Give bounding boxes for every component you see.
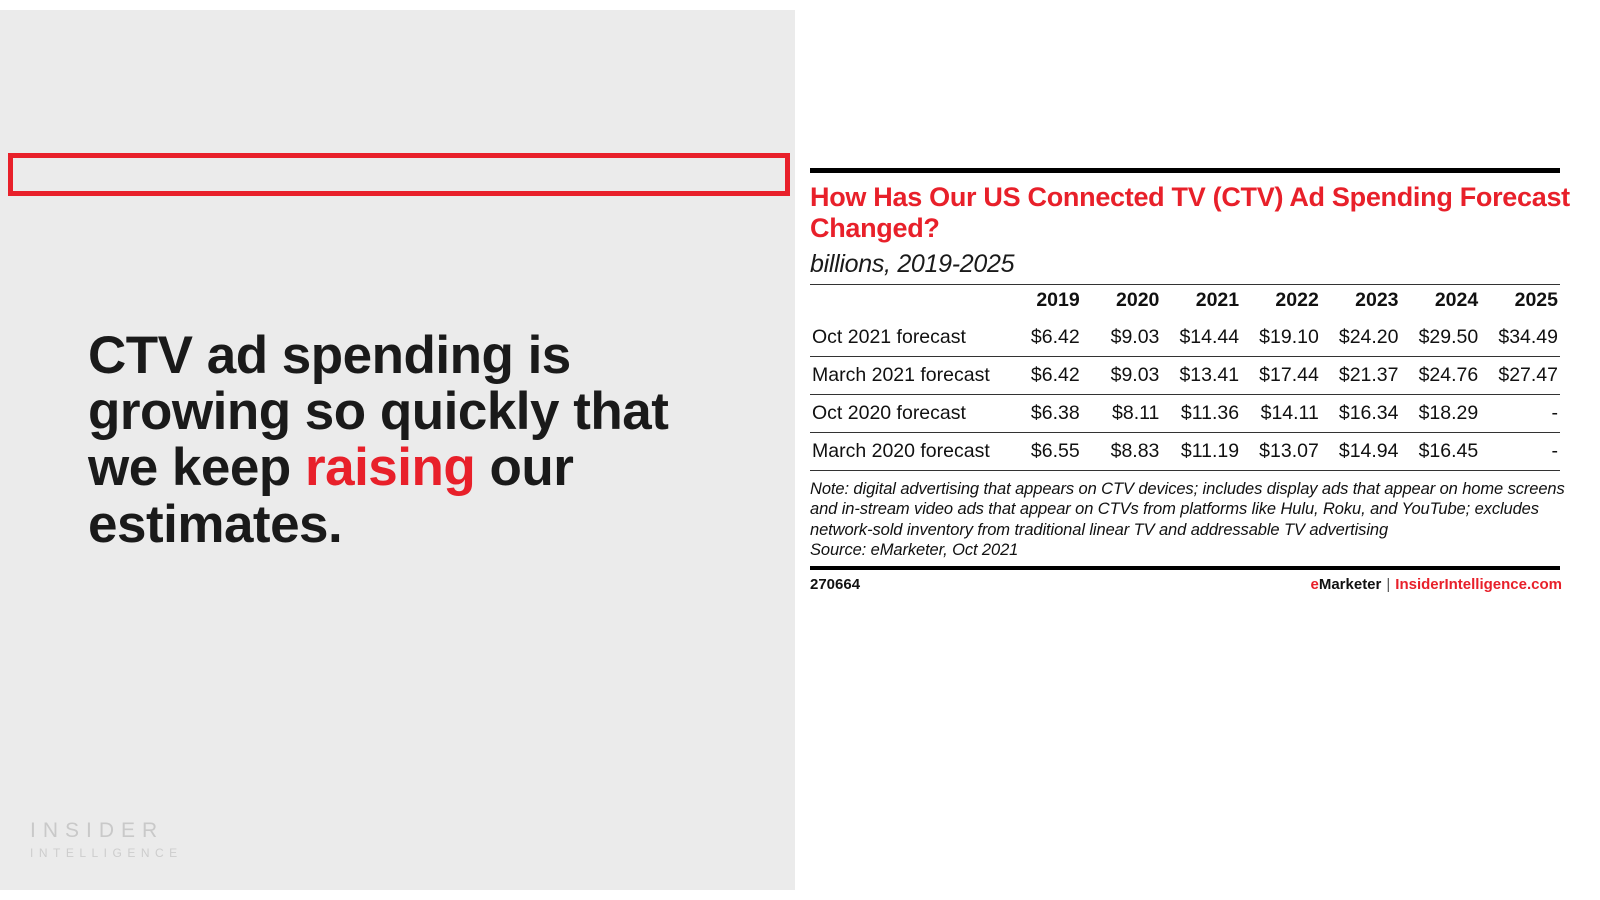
cell-value: $24.76 xyxy=(1401,357,1481,395)
cell-value: $16.34 xyxy=(1321,395,1401,433)
insider-intelligence-url: InsiderIntelligence.com xyxy=(1395,576,1562,593)
row-label: March 2020 forecast xyxy=(810,433,1002,471)
cell-value: $14.44 xyxy=(1161,319,1241,357)
cell-value: $27.47 xyxy=(1480,357,1560,395)
chart-title: How Has Our US Connected TV (CTV) Ad Spe… xyxy=(810,182,1570,245)
cell-value: $8.11 xyxy=(1082,395,1162,433)
logo-intelligence-text: INTELLIGENCE xyxy=(30,846,183,862)
logo-insider-text: INSIDER xyxy=(30,818,183,843)
cell-value: $6.55 xyxy=(1002,433,1082,471)
table-header-row: 2019 2020 2021 2022 2023 2024 2025 xyxy=(810,285,1560,319)
chart-card: How Has Our US Connected TV (CTV) Ad Spe… xyxy=(810,168,1600,593)
insider-intelligence-logo: INSIDER INTELLIGENCE xyxy=(30,818,183,862)
page-title: CTV ad spending is growing so quickly th… xyxy=(88,328,708,553)
cell-value: - xyxy=(1480,395,1560,433)
cell-value: $18.29 xyxy=(1401,395,1481,433)
cell-value: $19.10 xyxy=(1241,319,1321,357)
cell-value: - xyxy=(1480,433,1560,471)
column-header-label xyxy=(810,285,1002,319)
brand-attribution: eMarketer|InsiderIntelligence.com xyxy=(1310,576,1562,593)
table-row: Oct 2020 forecast $6.38 $8.11 $11.36 $14… xyxy=(810,395,1560,433)
cell-value: $9.03 xyxy=(1082,357,1162,395)
cell-value: $14.94 xyxy=(1321,433,1401,471)
table-row: March 2021 forecast $6.42 $9.03 $13.41 $… xyxy=(810,357,1560,395)
column-header-2025: 2025 xyxy=(1480,285,1560,319)
chart-source: Source: eMarketer, Oct 2021 xyxy=(810,540,1600,560)
table-body: Oct 2021 forecast $6.42 $9.03 $14.44 $19… xyxy=(810,319,1560,471)
cell-value: $21.37 xyxy=(1321,357,1401,395)
left-quote-panel: CTV ad spending is growing so quickly th… xyxy=(0,10,795,890)
cell-value: $29.50 xyxy=(1401,319,1481,357)
emarketer-name: Marketer xyxy=(1319,576,1382,593)
brand-separator: | xyxy=(1381,576,1395,593)
cell-value: $13.41 xyxy=(1161,357,1241,395)
chart-id: 270664 xyxy=(810,576,860,593)
headline-accent-word: raising xyxy=(305,438,475,497)
table-row: Oct 2021 forecast $6.42 $9.03 $14.44 $19… xyxy=(810,319,1560,357)
cell-value: $11.36 xyxy=(1161,395,1241,433)
table-row: March 2020 forecast $6.55 $8.83 $11.19 $… xyxy=(810,433,1560,471)
cell-value: $16.45 xyxy=(1401,433,1481,471)
top-divider-rule xyxy=(810,168,1560,173)
cell-value: $6.42 xyxy=(1002,319,1082,357)
chart-footer: 270664 eMarketer|InsiderIntelligence.com xyxy=(810,576,1562,593)
chart-subtitle: billions, 2019-2025 xyxy=(810,250,1600,279)
column-header-2020: 2020 xyxy=(1082,285,1162,319)
cell-value: $14.11 xyxy=(1241,395,1321,433)
column-header-2022: 2022 xyxy=(1241,285,1321,319)
cell-value: $6.42 xyxy=(1002,357,1082,395)
row-label: Oct 2020 forecast xyxy=(810,395,1002,433)
table-header: 2019 2020 2021 2022 2023 2024 2025 xyxy=(810,285,1560,319)
cell-value: $13.07 xyxy=(1241,433,1321,471)
column-header-2021: 2021 xyxy=(1161,285,1241,319)
cell-value: $9.03 xyxy=(1082,319,1162,357)
forecast-table: 2019 2020 2021 2022 2023 2024 2025 Oct 2… xyxy=(810,285,1560,471)
cell-value: $34.49 xyxy=(1480,319,1560,357)
row-label: March 2021 forecast xyxy=(810,357,1002,395)
column-header-2024: 2024 xyxy=(1401,285,1481,319)
cell-value: $11.19 xyxy=(1161,433,1241,471)
cell-value: $17.44 xyxy=(1241,357,1321,395)
row-label: Oct 2021 forecast xyxy=(810,319,1002,357)
cell-value: $6.38 xyxy=(1002,395,1082,433)
column-header-2019: 2019 xyxy=(1002,285,1082,319)
cell-value: $8.83 xyxy=(1082,433,1162,471)
bottom-divider-rule xyxy=(810,566,1560,570)
chart-note: Note: digital advertising that appears o… xyxy=(810,479,1565,540)
cell-value: $24.20 xyxy=(1321,319,1401,357)
emarketer-e: e xyxy=(1310,576,1318,593)
column-header-2023: 2023 xyxy=(1321,285,1401,319)
